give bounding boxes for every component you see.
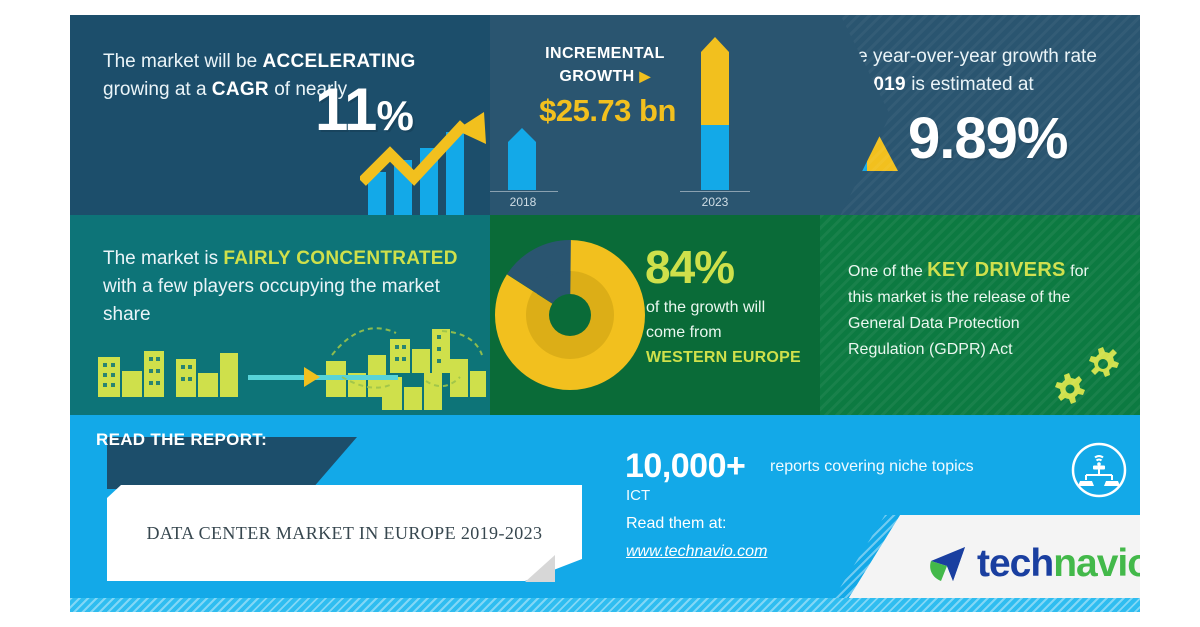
report-title-text: DATA CENTER MARKET IN EUROPE 2019-2023 [107,485,582,581]
driver-text-before: One of the [848,263,927,280]
bar-label-2023: 2023 [680,195,750,209]
footer-bottom-stripe [70,598,1140,612]
city-buildings-network-icon [90,315,490,410]
cagr-text-middle: growing at a [103,79,212,100]
donut-caption-line1: of the growth will [646,299,765,316]
driver-text-line2: this market is the release of the [848,289,1070,306]
driver-text-after: for [1066,263,1089,280]
reports-count: 10,000+ [625,447,745,486]
donut-region-label: WESTERN EUROPE [646,349,801,366]
panel-key-drivers: One of the KEY DRIVERS for this market i… [820,215,1140,415]
read-them-at-label: Read them at: [626,515,727,533]
driver-text-line3: General Data Protection [848,315,1020,332]
donut-chart [495,240,645,390]
axis-2023 [680,191,750,192]
cagr-bold-accelerating: ACCELERATING [262,51,415,72]
panel-donut-western-europe: 84% of the growth will come from WESTERN… [490,215,820,415]
panel-market-concentration: The market is FAIRLY CONCENTRATED with a… [70,215,490,415]
axis-2018 [488,191,558,192]
yoy-text-line2-after: is estimated at [906,74,1034,95]
incremental-growth-title: INCREMENTAL GROWTH ▶ [500,43,710,88]
logo-text-tech: tech [977,542,1053,585]
donut-hole [549,294,591,336]
donut-caption-line2: come from [646,324,722,341]
technavio-logo: technavio [925,543,1140,585]
concentration-text-line2: with a few players occupying the market [103,276,440,297]
technavio-url-link[interactable]: www.technavio.com [626,543,767,561]
yoy-value: 9.89% [908,105,1067,172]
incremental-title-line1: INCREMENTAL [545,45,665,62]
donut-percent-label: 84% [645,240,734,294]
bar-label-2018: 2018 [488,195,558,209]
reports-count-caption: reports covering niche topics [770,458,974,476]
donut-caption: of the growth will come from WESTERN EUR… [646,295,820,370]
network-topology-icon [1070,441,1128,499]
infographic-canvas: The market will be ACCELERATING growing … [70,15,1140,612]
incremental-title-line2: GROWTH [559,68,634,85]
report-domain: ICT [626,487,650,504]
cagr-bold-cagr: CAGR [212,79,269,100]
technavio-logo-text: technavio [977,542,1140,586]
play-triangle-icon: ▶ [639,68,650,84]
paper-plane-icon [925,544,969,584]
bar-2018 [502,128,542,190]
logo-text-navio: navio [1053,542,1140,585]
cagr-text-before: The market will be [103,51,262,72]
read-the-report-label: READ THE REPORT: [96,430,267,450]
bar-2023 [695,37,735,190]
panel-incremental-growth: INCREMENTAL GROWTH ▶ $25.73 bn 2018 2023 [480,15,820,215]
concentration-highlight: FAIRLY CONCENTRATED [223,248,457,269]
driver-text-line4: Regulation (GDPR) Act [848,341,1013,358]
incremental-growth-value: $25.73 bn [500,93,715,129]
panel-cagr: The market will be ACCELERATING growing … [70,15,490,215]
panel-footer: READ THE REPORT: DATA CENTER MARKET IN E… [70,415,1140,612]
growth-arrow-bar-chart-icon [360,110,490,215]
gears-icon [1052,345,1122,405]
yoy-text-line1: The year-over-year growth rate [835,46,1097,67]
driver-highlight: KEY DRIVERS [927,259,1066,281]
concentration-text-before: The market is [103,248,223,269]
